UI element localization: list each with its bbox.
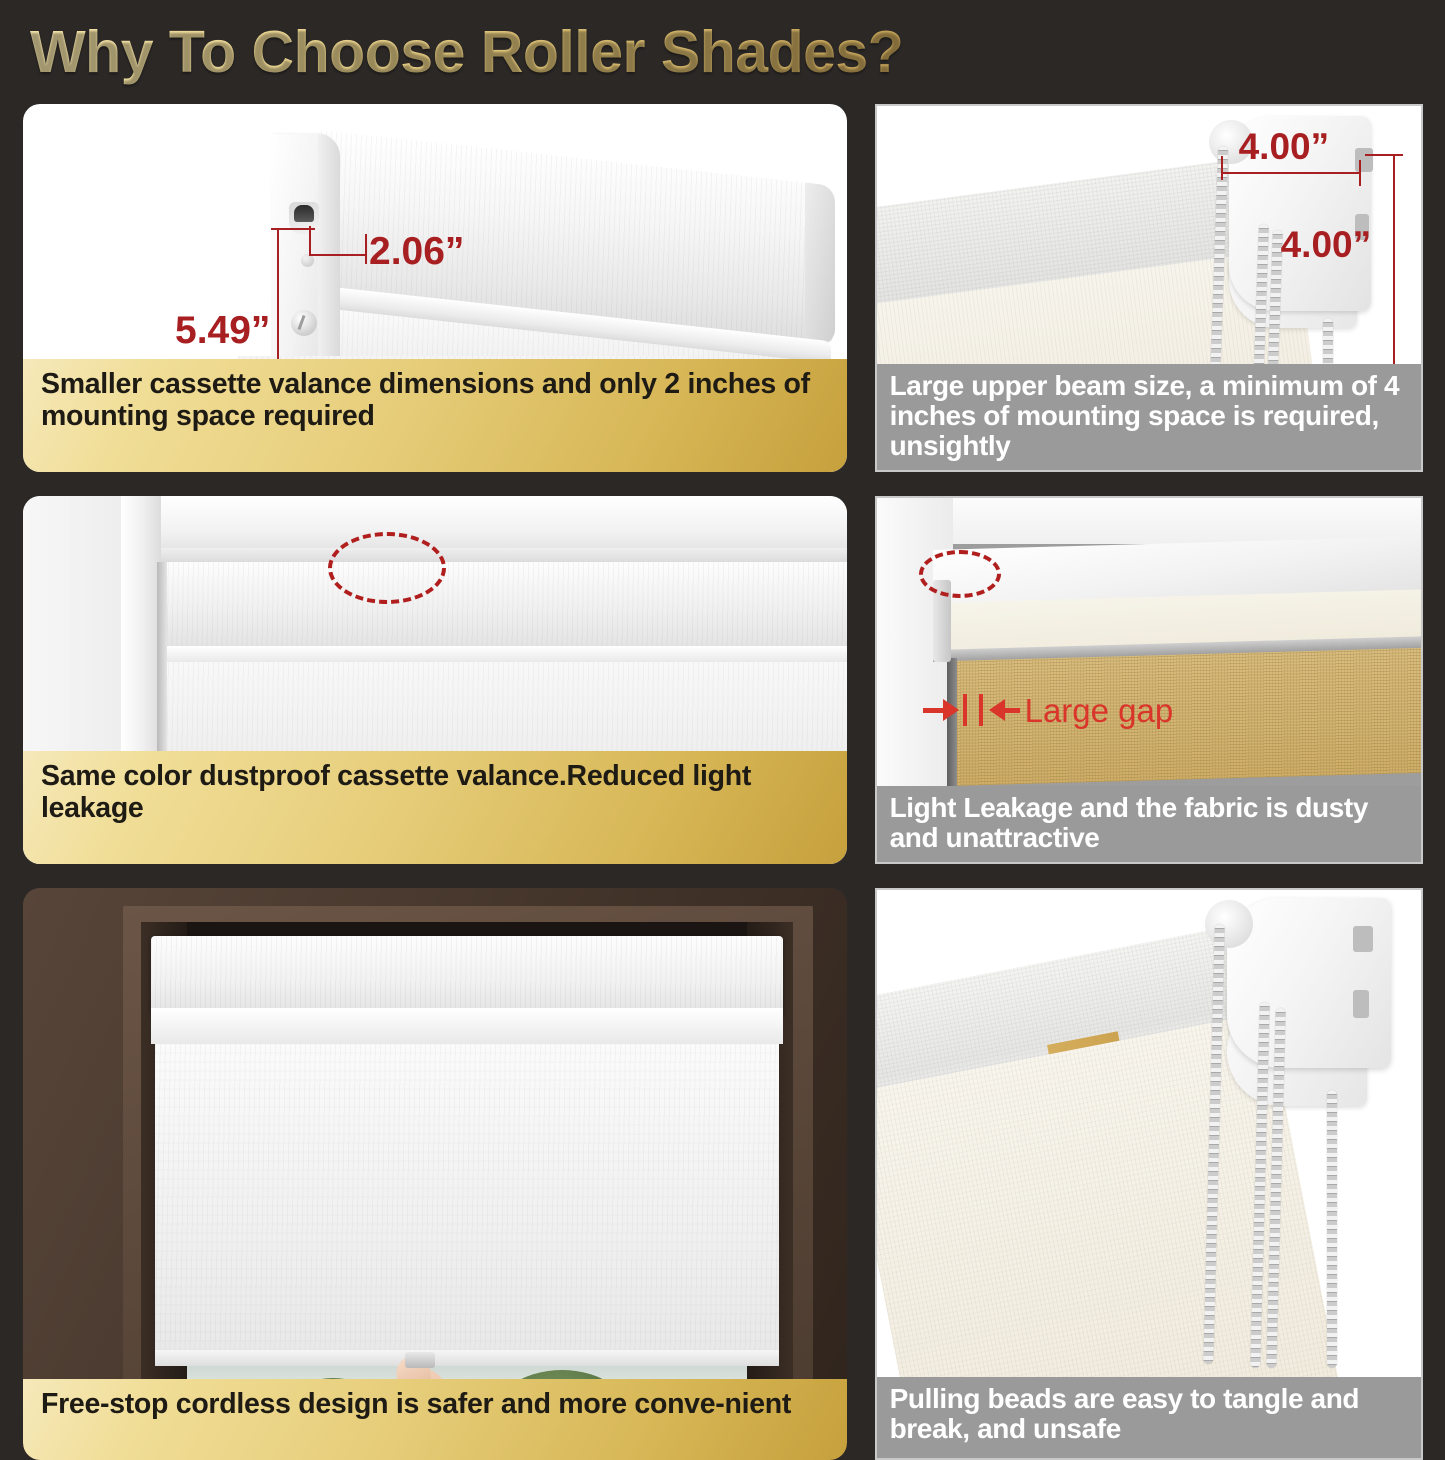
dim-line-beam-width [1221,172,1361,174]
dim-tick-right [1359,160,1361,186]
dim-tick-top [1365,154,1403,156]
dim-tick-right [365,234,367,264]
width-dimension-label: 2.06” [369,230,464,274]
page-title: Why To Choose Roller Shades? [30,18,903,86]
panel-cassette-valance-dimensions: 2.06” 5.49” Smaller cassette valance dim… [23,104,847,472]
height-dimension-label: 5.49” [175,309,270,353]
panel-free-stop-cordless-design: Free-stop cordless design is safer and m… [23,888,847,1460]
comparison-row-1: 2.06” 5.49” Smaller cassette valance dim… [23,104,1423,472]
beam-height-label: 4.00” [1281,224,1372,266]
panel-caption: Pulling beads are easy to tangle and bre… [877,1377,1421,1458]
gap-arrow-shaft-right [1004,708,1020,713]
gap-arrow-right-icon [943,699,959,721]
panel-caption: Light Leakage and the fabric is dusty an… [877,786,1421,862]
highlight-circle-icon [328,532,446,604]
panel-dustproof-cassette-valance: smaller gap Same color dustproof cassett… [23,496,847,864]
beam-width-label: 4.00” [1239,126,1330,168]
header: Why To Choose Roller Shades? [0,0,1445,104]
panel-caption: Free-stop cordless design is safer and m… [23,1379,847,1460]
gap-label: Large gap [1025,692,1174,730]
panel-pulling-beads-unsafe: Pulling beads are easy to tangle and bre… [875,888,1423,1460]
product-photo-bead-chain-shade [877,890,1421,1458]
gap-arrow-shaft-left [923,708,945,713]
panel-caption: Large upper beam size, a minimum of 4 in… [877,364,1421,470]
dim-line-width [309,254,367,256]
highlight-circle-icon [919,550,1001,598]
panel-caption: Same color dustproof cassette valance.Re… [23,751,847,864]
dim-tick-left [309,226,311,256]
dim-tick-left [1221,156,1223,180]
dim-tick-top [271,228,315,230]
dim-line-beam-height [1393,154,1395,366]
panel-caption: Smaller cassette valance dimensions and … [23,359,847,472]
gap-tick-left [963,694,967,726]
bead-chain [1327,1090,1337,1368]
panel-light-leakage-dusty-fabric: Large gap Light Leakage and the fabric i… [875,496,1423,864]
product-photo-cordless-shade [23,888,847,1460]
comparison-grid: 2.06” 5.49” Smaller cassette valance dim… [0,104,1445,1445]
pull-tab [405,1352,435,1368]
panel-large-upper-beam: 4.00” 4.00” Large upper beam size, a min… [875,104,1423,472]
comparison-row-2: smaller gap Same color dustproof cassett… [23,496,1423,864]
gap-tick-right [979,694,983,726]
comparison-row-3: Free-stop cordless design is safer and m… [23,888,1423,1460]
gap-arrow-left-icon [989,699,1005,721]
